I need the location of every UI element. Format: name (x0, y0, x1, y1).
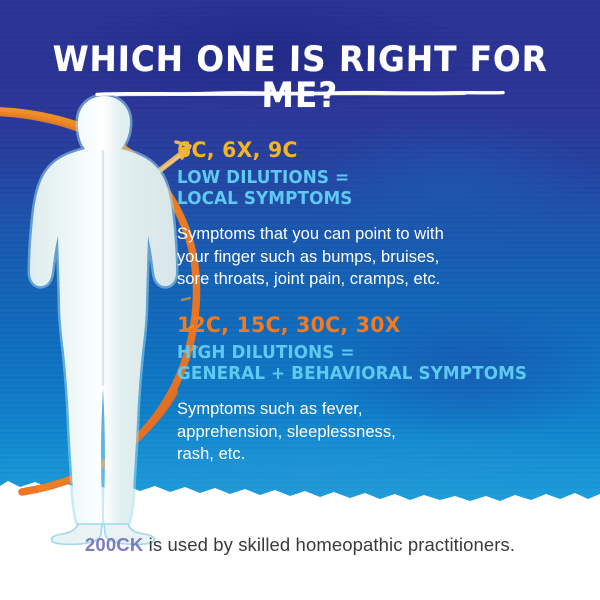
subtitle-low-line-2: LOCAL SYMPTOMS (177, 189, 433, 210)
dose-label-high: 12C, 15C, 30C, 30X (177, 313, 531, 338)
title-brush-underline (95, 90, 505, 97)
body-line: rash, etc. (177, 443, 542, 466)
body-line: your finger such as bumps, bruises, (177, 246, 444, 269)
footer-text: is used by skilled homeopathic practitio… (143, 534, 515, 555)
body-text-high: Symptoms such as fever, apprehension, sl… (177, 398, 542, 466)
footer-caption: 200CK is used by skilled homeopathic pra… (0, 534, 600, 556)
infographic-poster: WHICH ONE IS RIGHT FOR ME? 6C, 6X, 9C LO… (0, 0, 600, 600)
body-line: Symptoms that you can point to with (177, 223, 444, 246)
subtitle-high-line-2: GENERAL + BEHAVIORAL SYMPTOMS (177, 364, 527, 385)
body-line: sore throats, joint pain, cramps, etc. (177, 268, 444, 291)
dose-label-low: 6C, 6X, 9C (177, 138, 436, 163)
page-title: WHICH ONE IS RIGHT FOR ME? (0, 42, 600, 114)
section-low-dilutions: 6C, 6X, 9C LOW DILUTIONS = LOCAL SYMPTOM… (177, 138, 444, 291)
section-high-dilutions: 12C, 15C, 30C, 30X HIGH DILUTIONS = GENE… (177, 313, 542, 466)
subtitle-high-line-1: HIGH DILUTIONS = (177, 343, 527, 364)
footer-code: 200CK (85, 534, 144, 555)
body-line: apprehension, sleeplessness, (177, 421, 542, 444)
body-text-low: Symptoms that you can point to with your… (177, 223, 444, 291)
page-title-text: WHICH ONE IS RIGHT FOR ME? (21, 42, 580, 114)
subtitle-low-line-1: LOW DILUTIONS = (177, 168, 433, 189)
body-line: Symptoms such as fever, (177, 398, 542, 421)
